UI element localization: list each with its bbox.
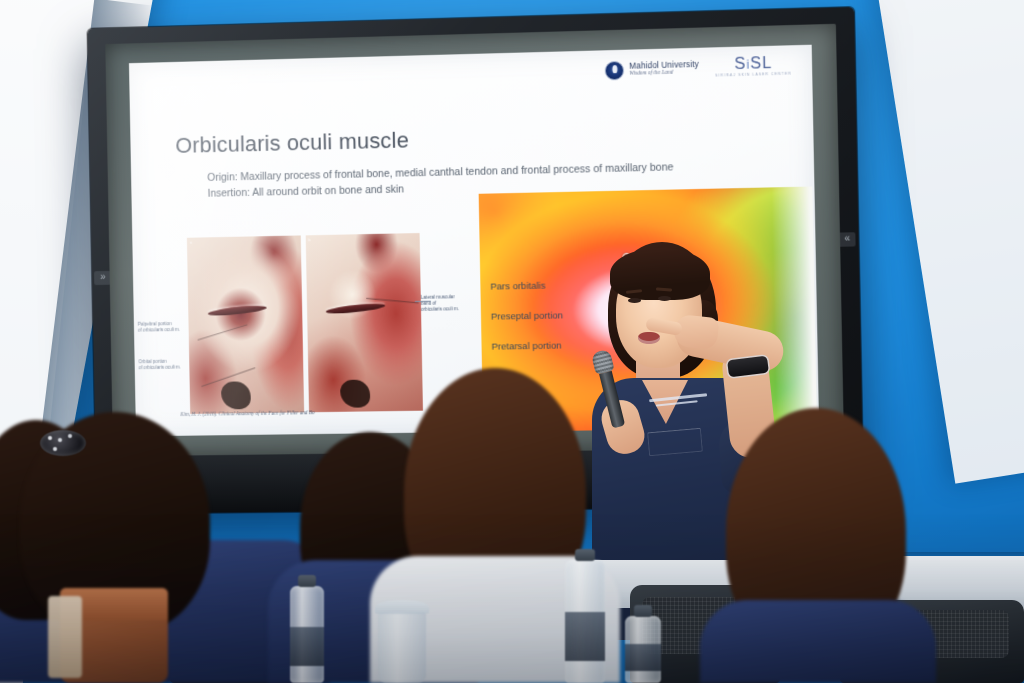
presenter-chest-pocket xyxy=(647,428,703,457)
label-preseptal-portion: Preseptal portion xyxy=(491,310,563,322)
handbag xyxy=(60,588,168,683)
bottle-label xyxy=(565,612,605,661)
cadaver-dissection-figure: a b xyxy=(187,233,423,414)
audience-shoulders xyxy=(700,600,936,683)
presenter-eye-left xyxy=(628,298,641,303)
callout-lateral-band: Lateral muscular band of orbicularis ocu… xyxy=(421,294,459,313)
label-pretarsal-portion: Pretarsal portion xyxy=(491,340,563,352)
callout-orbital-portion: Orbital portion of orbicularis oculi m. xyxy=(138,359,180,372)
bottle-label xyxy=(290,627,324,666)
mahidol-seal-icon xyxy=(605,60,625,80)
iced-drink-cup xyxy=(378,612,426,683)
bottle-cap xyxy=(575,549,596,561)
slide-logo-row: Mahidol University Wisdom of the Land Si… xyxy=(605,55,792,80)
mahidol-university-logo: Mahidol University Wisdom of the Land xyxy=(605,59,699,81)
presenter-hair-front xyxy=(610,248,710,300)
presenter-mouth xyxy=(638,332,660,344)
sisl-logo: SiSL SIRIRAJ SKIN LASER CENTER xyxy=(715,55,792,78)
heatmap-label-stack: Pars orbitalis Preseptal portion Pretars… xyxy=(490,280,564,371)
bottle-cap xyxy=(634,605,653,617)
sisl-sl: SL xyxy=(750,55,772,73)
bottle-label xyxy=(625,644,661,671)
sisl-subtitle: SIRIRAJ SKIN LASER CENTER xyxy=(715,73,791,78)
panel-a-tag: a xyxy=(190,240,192,245)
water-bottle xyxy=(290,586,324,683)
lecture-photo-scene: » « Mahidol University Wisdom of the Lan… xyxy=(0,0,1024,683)
water-bottle xyxy=(625,616,661,683)
cup-dome-lid xyxy=(375,600,429,614)
dissection-panel-a: a xyxy=(187,235,304,413)
slide-citation: Kim, H. J. (2016). Clinical Anatomy of t… xyxy=(180,410,314,418)
presenter-eye-right xyxy=(658,296,671,301)
panel-b-tag: b xyxy=(308,237,310,242)
dissection-panel-b: b xyxy=(305,233,423,412)
slide-title: Orbicularis oculi muscle xyxy=(175,127,409,158)
callout-palpebral-line2: of orbicularis oculi m. xyxy=(138,327,180,334)
display-next-button[interactable]: » xyxy=(94,271,111,285)
sisl-wordmark: SiSL xyxy=(715,55,792,73)
water-bottle xyxy=(565,560,605,683)
bottle-cap xyxy=(298,575,316,587)
university-tagline: Wisdom of the Land xyxy=(629,70,699,78)
label-pars-orbitalis: Pars orbitalis xyxy=(490,280,562,292)
hair-clip-accessory xyxy=(40,430,86,456)
callout-lateral-line3: orbicularis oculi m. xyxy=(421,307,459,314)
handbag-strap-trim xyxy=(48,596,82,678)
callout-palpebral-portion: Palpebral portion of orbicularis oculi m… xyxy=(138,321,180,334)
callout-orbital-line2: of orbicularis oculi m. xyxy=(139,365,181,372)
sisl-s1: S xyxy=(734,56,746,73)
